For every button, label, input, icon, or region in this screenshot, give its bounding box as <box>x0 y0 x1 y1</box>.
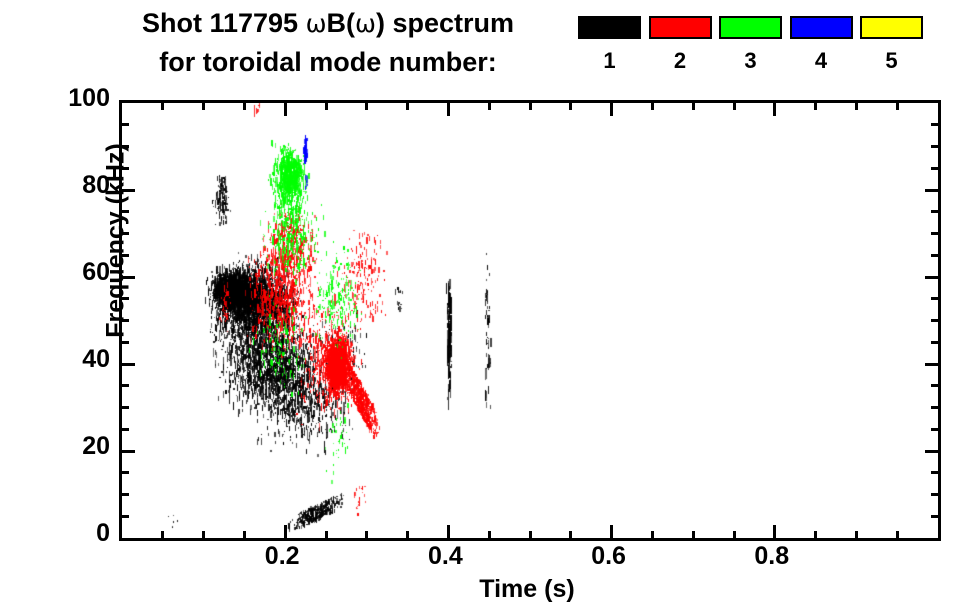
x-axis-tick <box>896 103 899 110</box>
legend-swatch-yellow <box>860 16 923 39</box>
legend-label-3: 3 <box>719 48 782 74</box>
y-axis-tick <box>122 384 129 387</box>
y-axis-tick <box>931 493 938 496</box>
legend-label-5: 5 <box>860 48 923 74</box>
x-axis-tick <box>406 531 409 538</box>
y-axis-tick <box>925 450 938 453</box>
x-axis-tick <box>488 531 491 538</box>
x-tick-label: 0.6 <box>574 542 644 571</box>
y-axis-tick <box>931 210 938 213</box>
y-axis-tick <box>931 145 938 148</box>
x-axis-tick <box>773 103 776 116</box>
y-axis-tick <box>931 254 938 257</box>
legend-swatch-blue <box>790 16 853 39</box>
x-axis-tick <box>488 103 491 110</box>
x-axis-label: Time (s) <box>119 575 935 604</box>
y-axis-tick <box>931 341 938 344</box>
x-axis-tick <box>855 531 858 538</box>
legend-label-2: 2 <box>649 48 712 74</box>
y-axis-tick <box>931 319 938 322</box>
omega-symbol-1: ω <box>306 9 327 38</box>
spectrogram-figure: Shot 117795 ωB(ω) spectrum for toroidal … <box>0 0 963 615</box>
x-axis-tick <box>773 525 776 538</box>
y-axis-tick <box>122 471 129 474</box>
x-axis-tick <box>651 103 654 110</box>
x-axis-tick <box>692 103 695 110</box>
legend-swatch-black <box>578 16 641 39</box>
x-axis-tick <box>161 531 164 538</box>
x-axis-tick <box>733 103 736 110</box>
y-axis-label: Frequency (kHz) <box>102 111 131 371</box>
x-axis-tick <box>529 531 532 538</box>
y-axis-tick <box>925 276 938 279</box>
x-axis-tick <box>651 531 654 538</box>
x-axis-tick <box>529 103 532 110</box>
y-axis-tick <box>925 189 938 192</box>
x-axis-tick <box>692 531 695 538</box>
y-axis-tick <box>122 450 135 453</box>
x-axis-tick <box>406 103 409 110</box>
x-axis-tick <box>161 103 164 110</box>
x-axis-tick <box>610 525 613 538</box>
y-axis-tick <box>122 428 129 431</box>
legend-label-1: 1 <box>578 48 641 74</box>
legend-item-4[interactable]: 4 <box>790 16 853 74</box>
legend-item-3[interactable]: 3 <box>719 16 782 74</box>
title-line-2: for toroidal mode number: <box>78 43 578 81</box>
x-axis-tick <box>243 531 246 538</box>
y-axis-tick <box>931 428 938 431</box>
x-axis-tick <box>896 531 899 538</box>
x-axis-tick-labels: 0.20.40.60.8 <box>0 542 963 576</box>
legend-label-4: 4 <box>790 48 853 74</box>
x-axis-tick <box>325 531 328 538</box>
x-axis-tick <box>733 531 736 538</box>
y-axis-tick <box>931 471 938 474</box>
y-axis-tick <box>122 493 129 496</box>
x-tick-label: 0.4 <box>410 542 480 571</box>
x-axis-tick <box>569 531 572 538</box>
y-axis-tick <box>931 123 938 126</box>
x-axis-tick <box>610 103 613 116</box>
y-axis-tick <box>931 167 938 170</box>
figure-title: Shot 117795 ωB(ω) spectrum for toroidal … <box>78 4 578 81</box>
x-axis-tick <box>447 103 450 116</box>
omega-symbol-2: ω <box>355 9 376 38</box>
x-axis-tick <box>325 103 328 110</box>
x-axis-tick <box>243 103 246 110</box>
legend-item-1[interactable]: 1 <box>578 16 641 74</box>
y-axis-tick <box>931 232 938 235</box>
plot-area <box>119 100 941 541</box>
x-axis-tick <box>569 103 572 110</box>
y-axis-tick <box>931 515 938 518</box>
y-axis-tick <box>122 406 129 409</box>
spectrogram-canvas <box>122 103 938 538</box>
x-axis-tick <box>284 525 287 538</box>
y-tick-label: 100 <box>68 84 110 113</box>
x-tick-label: 0.8 <box>737 542 807 571</box>
y-axis-tick <box>925 363 938 366</box>
x-axis-tick <box>202 103 205 110</box>
x-tick-label: 0.2 <box>247 542 317 571</box>
legend: 12345 <box>578 16 930 88</box>
x-axis-tick <box>814 103 817 110</box>
legend-swatch-green <box>719 16 782 39</box>
y-tick-label: 20 <box>82 432 110 461</box>
x-axis-tick <box>365 103 368 110</box>
title-line-1: Shot 117795 ωB(ω) spectrum <box>78 4 578 43</box>
x-axis-tick <box>855 103 858 110</box>
x-axis-tick <box>202 531 205 538</box>
y-axis-tick <box>931 406 938 409</box>
x-axis-tick <box>284 103 287 116</box>
y-axis-tick-labels: 020406080100 <box>0 100 110 535</box>
y-axis-tick <box>931 384 938 387</box>
y-axis-tick <box>931 297 938 300</box>
legend-item-5[interactable]: 5 <box>860 16 923 74</box>
y-axis-tick <box>122 515 129 518</box>
x-axis-tick <box>365 531 368 538</box>
legend-item-2[interactable]: 2 <box>649 16 712 74</box>
legend-swatch-red <box>649 16 712 39</box>
x-axis-tick <box>447 525 450 538</box>
x-axis-tick <box>814 531 817 538</box>
